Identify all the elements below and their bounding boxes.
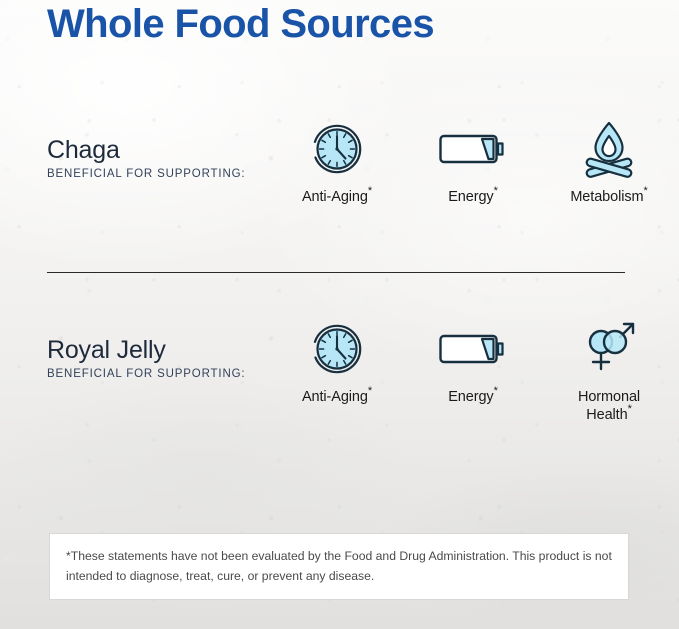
fda-disclaimer-text: *These statements have not been evaluate…	[66, 546, 612, 586]
product-infographic: Whole Food Sources Chaga BENEFICIAL FOR …	[0, 0, 679, 629]
benefit-label: Anti-Aging*	[302, 188, 372, 206]
benefit-label: Energy*	[448, 188, 498, 206]
clock-icon	[310, 320, 364, 378]
clock-icon	[310, 120, 364, 178]
gender-symbols-icon	[577, 320, 641, 378]
page-title: Whole Food Sources	[47, 0, 434, 50]
asterisk: *	[494, 185, 498, 197]
benefit-list: Anti-Aging* Energy*	[278, 320, 668, 424]
benefit-item: HormonalHealth*	[550, 320, 668, 424]
battery-icon	[438, 120, 508, 178]
asterisk: *	[643, 185, 647, 197]
benefit-item: Anti-Aging*	[278, 120, 396, 206]
benefit-list: Anti-Aging* Energy*	[278, 120, 668, 206]
asterisk: *	[628, 403, 632, 415]
benefit-item: Energy*	[414, 120, 532, 206]
fda-disclaimer-box: *These statements have not been evaluate…	[49, 533, 629, 600]
battery-icon	[438, 320, 508, 378]
benefit-label: Metabolism*	[570, 188, 647, 206]
benefit-label: Energy*	[448, 388, 498, 406]
benefit-item: Anti-Aging*	[278, 320, 396, 406]
asterisk: *	[368, 385, 372, 397]
product-name-block: Royal Jelly BENEFICIAL FOR SUPPORTING:	[47, 336, 297, 380]
benefit-label: Anti-Aging*	[302, 388, 372, 406]
benefit-label-line2: Health	[586, 407, 627, 423]
asterisk: *	[494, 385, 498, 397]
benefit-item: Energy*	[414, 320, 532, 406]
product-name: Chaga	[47, 136, 297, 164]
benefit-item: Metabolism*	[550, 120, 668, 206]
section-divider	[47, 272, 625, 273]
product-subtitle: BENEFICIAL FOR SUPPORTING:	[47, 168, 297, 180]
product-name: Royal Jelly	[47, 336, 297, 364]
product-name-block: Chaga BENEFICIAL FOR SUPPORTING:	[47, 136, 297, 180]
asterisk: *	[368, 185, 372, 197]
benefit-label: HormonalHealth*	[578, 388, 640, 424]
product-subtitle: BENEFICIAL FOR SUPPORTING:	[47, 368, 297, 380]
campfire-icon	[578, 120, 640, 178]
